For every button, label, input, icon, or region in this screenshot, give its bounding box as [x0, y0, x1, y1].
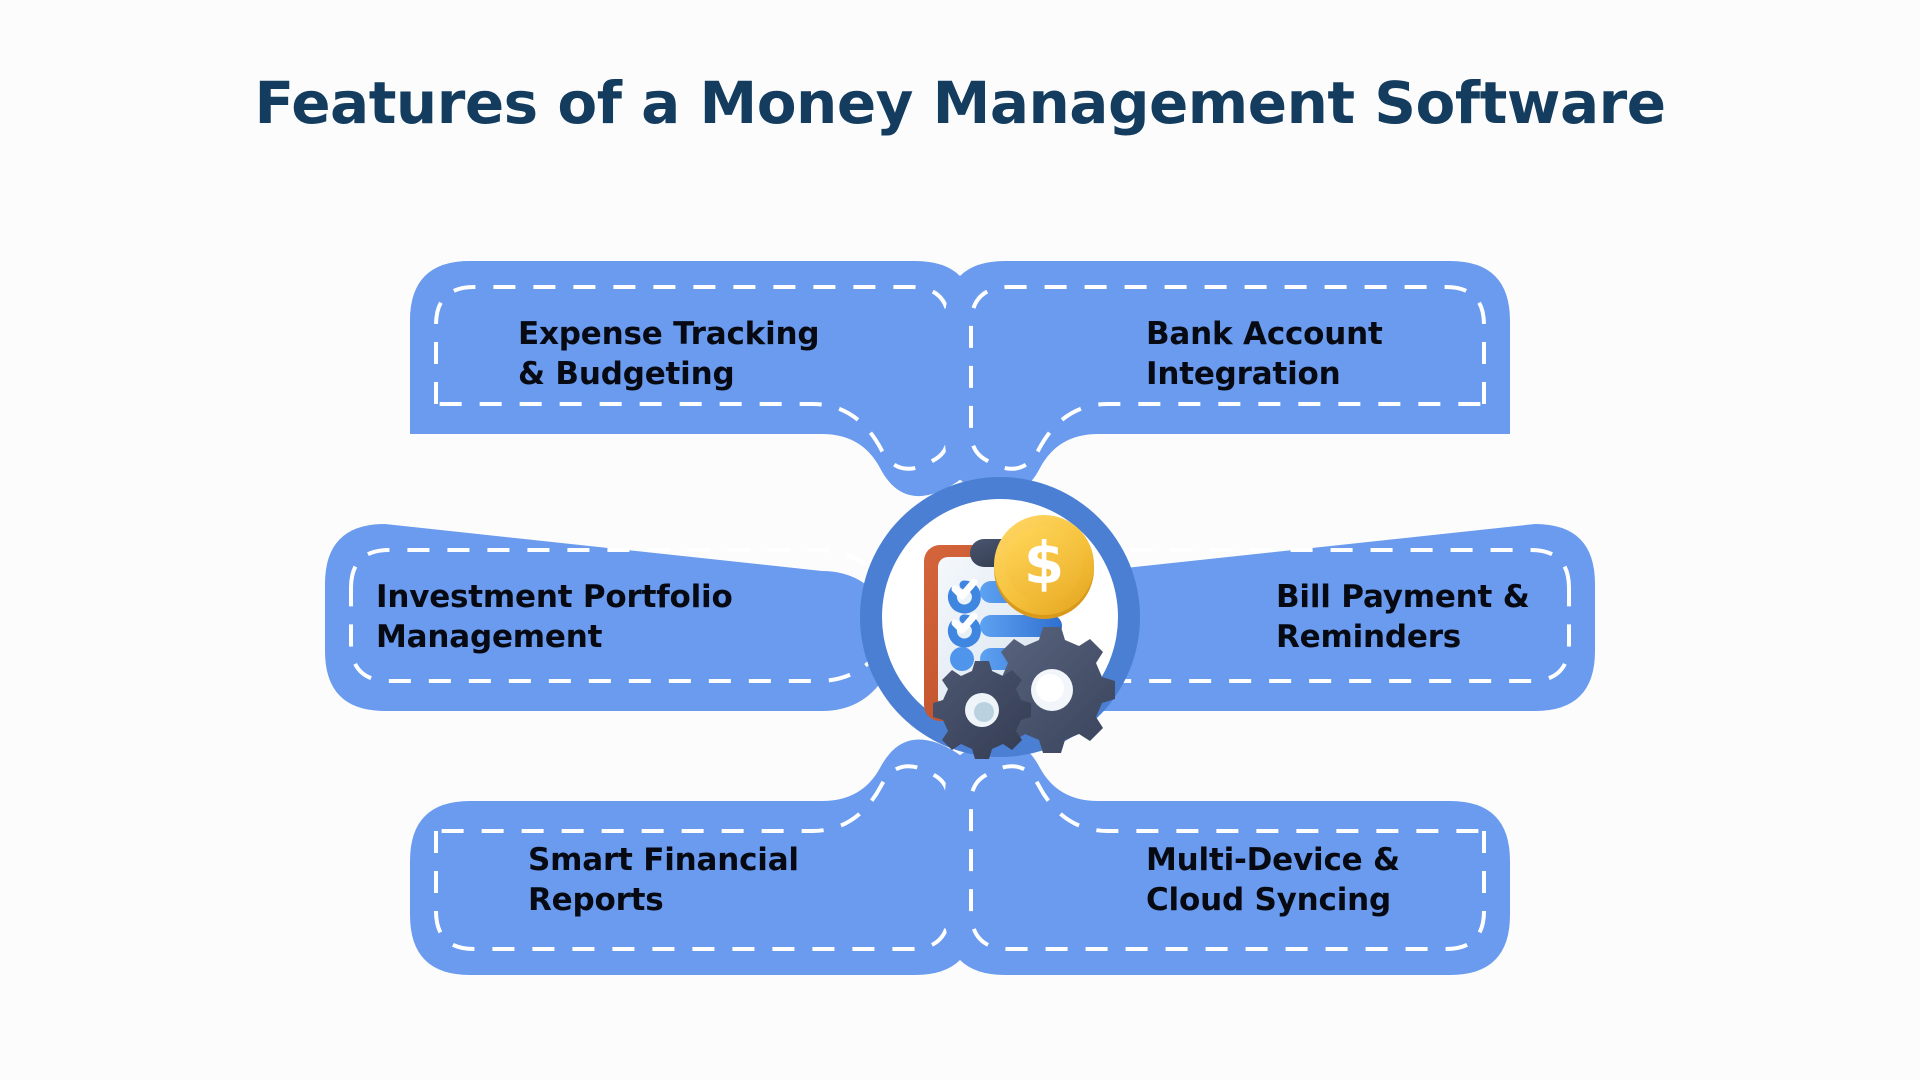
- dollar-sign: $: [1024, 529, 1064, 597]
- center-hub: $: [860, 477, 1140, 759]
- feature-label-bill-payment-reminders: Bill Payment & Reminders: [1276, 578, 1530, 657]
- feature-wheel-diagram: $: [0, 0, 1920, 1080]
- checklist-bullet-3: [950, 647, 974, 671]
- dollar-coin-icon: $: [994, 515, 1094, 619]
- gear-small-hub-inner: [974, 702, 994, 722]
- feature-label-multi-device-cloud-syncing: Multi-Device & Cloud Syncing: [1146, 841, 1400, 920]
- feature-label-bank-account-integration: Bank Account Integration: [1146, 315, 1383, 394]
- gear-small-icon: [933, 661, 1031, 759]
- feature-label-expense-tracking-budgeting: Expense Tracking & Budgeting: [518, 315, 819, 394]
- gear-large-hub-inner: [1036, 674, 1064, 702]
- feature-label-investment-portfolio-management: Investment Portfolio Management: [376, 578, 733, 657]
- feature-label-smart-financial-reports: Smart Financial Reports: [528, 841, 799, 920]
- infographic-canvas: Features of a Money Management Software: [0, 0, 1920, 1080]
